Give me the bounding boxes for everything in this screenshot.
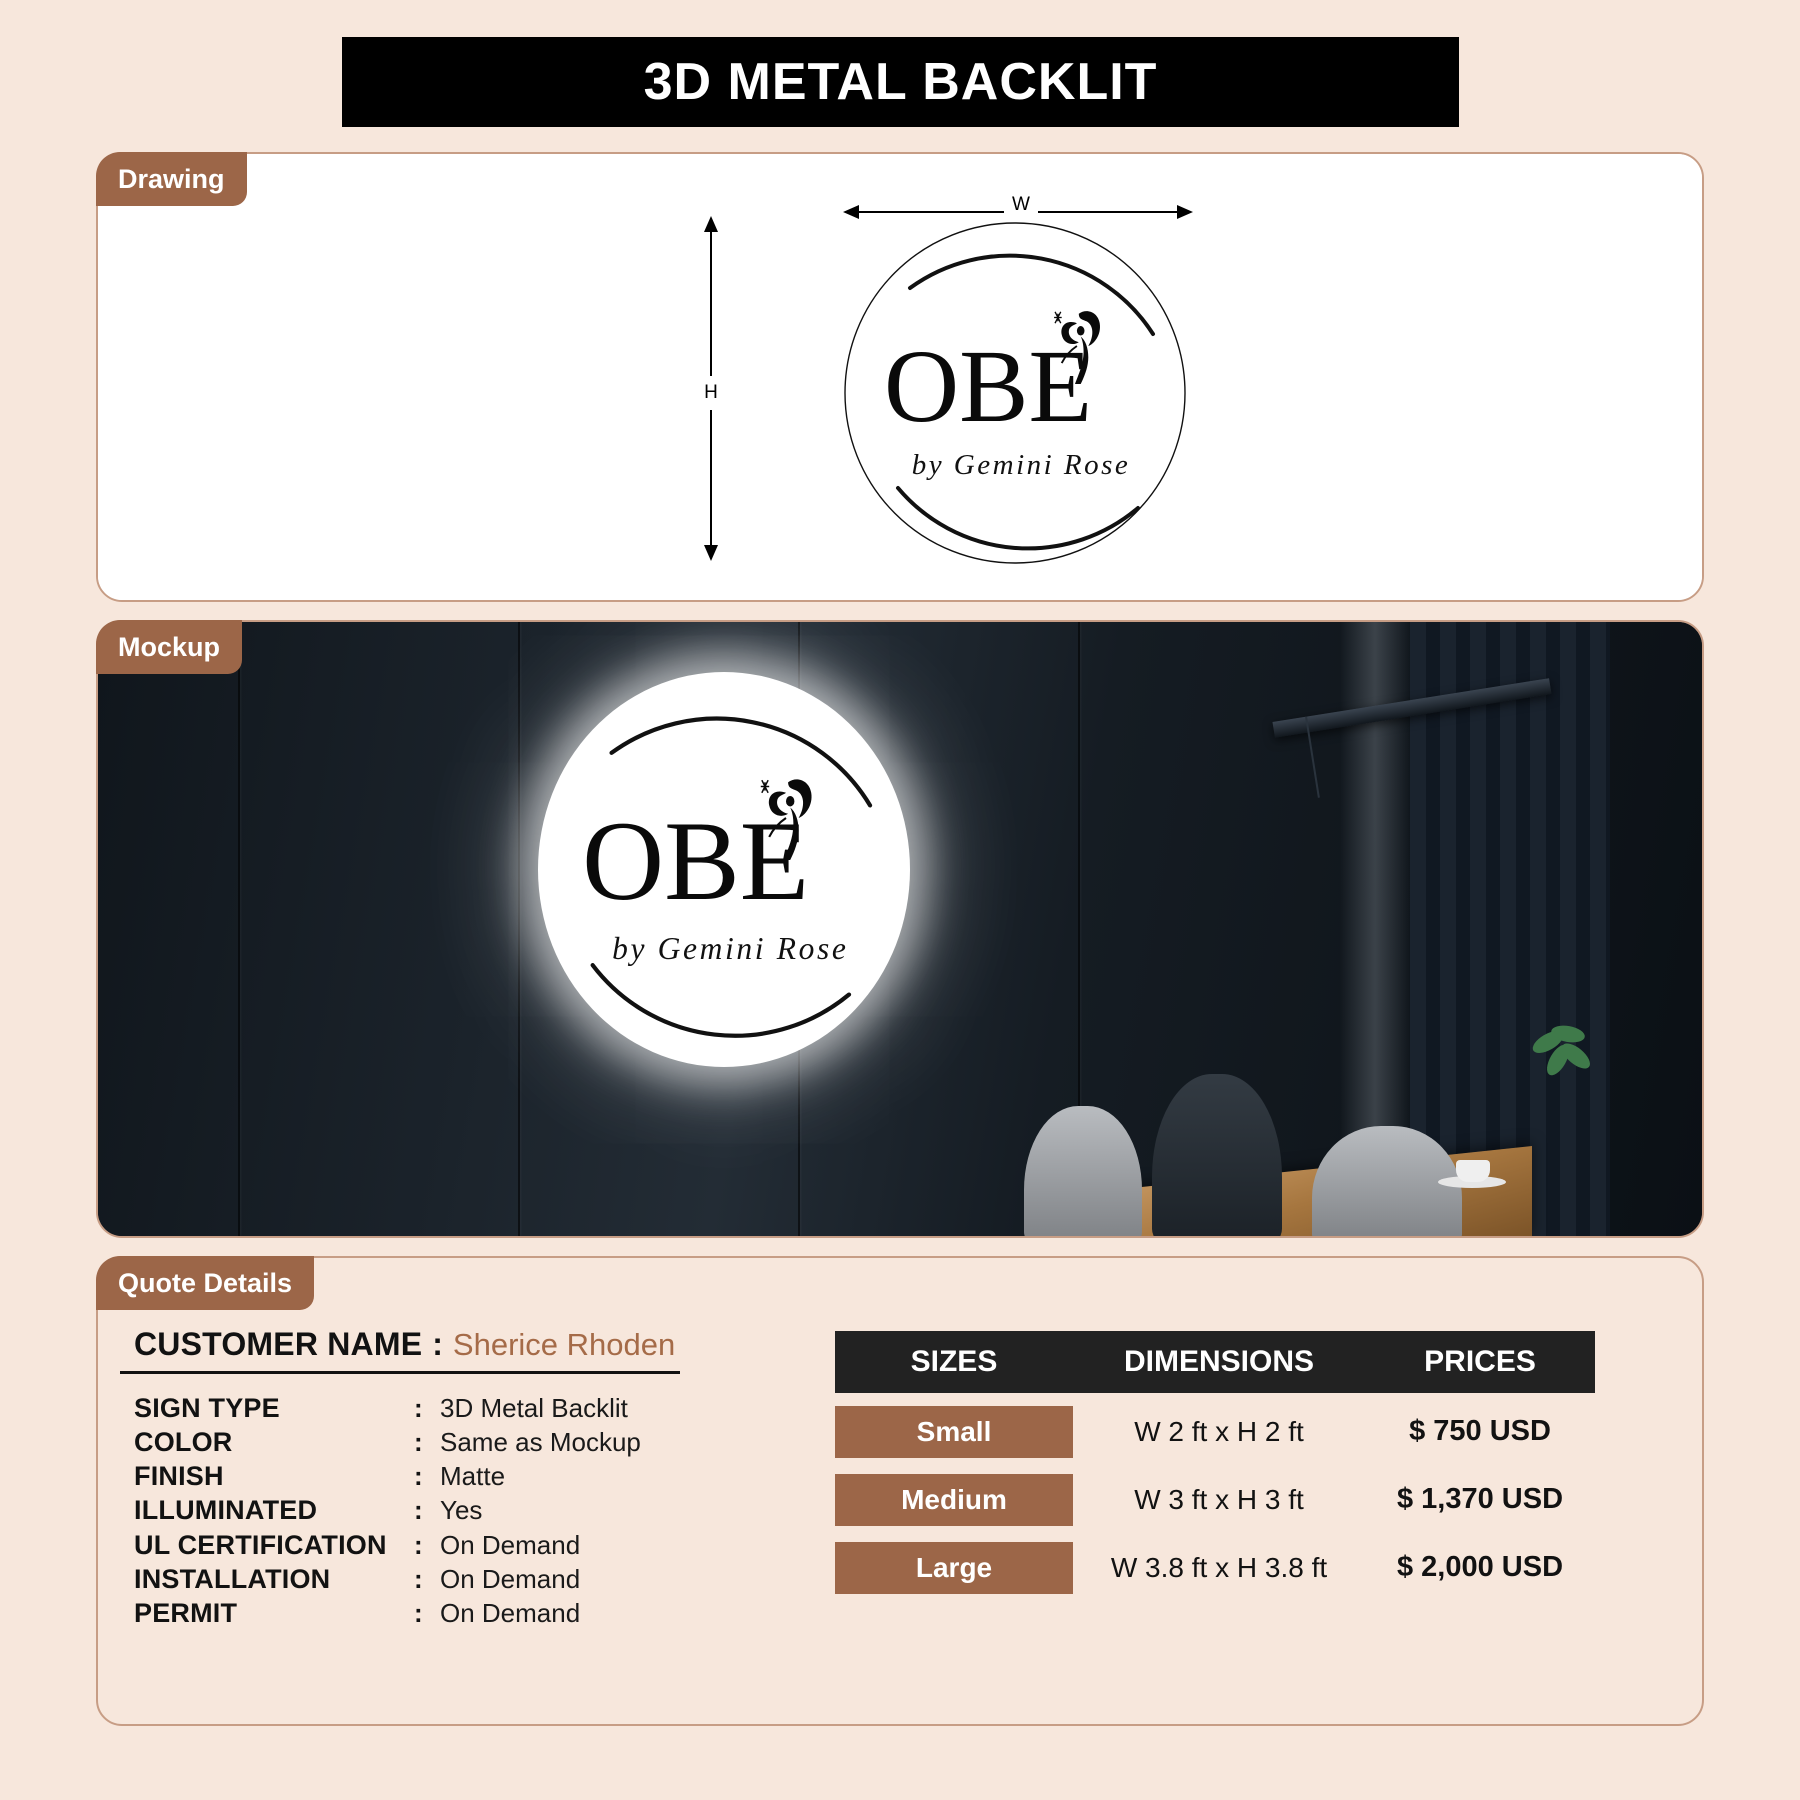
- quote-tab-label: Quote Details: [118, 1268, 292, 1299]
- price-cell: $ 2,000 USD: [1365, 1551, 1595, 1584]
- price-cell: $ 750 USD: [1365, 1415, 1595, 1448]
- spec-value: On Demand: [440, 1599, 580, 1627]
- spec-key: COLOR: [134, 1428, 414, 1457]
- customer-name-row: CUSTOMER NAME : Sherice Rhoden: [120, 1326, 680, 1374]
- drawing-tab-label: Drawing: [118, 164, 225, 195]
- colon: :: [414, 1428, 440, 1456]
- customer-name-label: CUSTOMER NAME: [134, 1326, 422, 1363]
- quote-section-tab: Quote Details: [96, 1256, 314, 1310]
- quote-sheet: 3D METAL BACKLIT W H OBE: [0, 0, 1800, 1800]
- spec-key: FINISH: [134, 1462, 414, 1491]
- size-badge-medium: Medium: [835, 1474, 1073, 1526]
- table-row: Large W 3.8 ft x H 3.8 ft $ 2,000 USD: [835, 1538, 1595, 1597]
- colon: :: [414, 1462, 440, 1490]
- size-badge-small: Small: [835, 1406, 1073, 1458]
- wall-seam: [238, 622, 240, 1236]
- colon: :: [414, 1565, 440, 1593]
- spec-row: FINISH : Matte: [134, 1462, 800, 1491]
- pricing-table-header: SIZES DIMENSIONS PRICES: [835, 1331, 1595, 1393]
- drawing-panel: W H OBE: [96, 152, 1704, 602]
- page-title: 3D METAL BACKLIT: [644, 52, 1158, 112]
- logo-drawing: OBE by Gemini Rose: [838, 216, 1192, 570]
- column-header-prices: PRICES: [1365, 1345, 1595, 1379]
- curtain: [1410, 622, 1610, 1236]
- spec-value: 3D Metal Backlit: [440, 1394, 628, 1422]
- column-header-dimensions: DIMENSIONS: [1073, 1345, 1365, 1379]
- colon: :: [432, 1326, 443, 1363]
- spec-value: Yes: [440, 1496, 482, 1524]
- table-row: Small W 2 ft x H 2 ft $ 750 USD: [835, 1402, 1595, 1461]
- drawing-canvas: W H OBE: [98, 154, 1702, 600]
- page-title-bar: 3D METAL BACKLIT: [342, 37, 1459, 127]
- specs-block: CUSTOMER NAME : Sherice Rhoden SIGN TYPE…: [120, 1326, 800, 1633]
- spec-key: PERMIT: [134, 1599, 414, 1628]
- spec-list: SIGN TYPE : 3D Metal Backlit COLOR : Sam…: [120, 1394, 800, 1628]
- spec-value: On Demand: [440, 1531, 580, 1559]
- coffee-cup: [1456, 1160, 1490, 1182]
- spec-row: COLOR : Same as Mockup: [134, 1428, 800, 1457]
- logo-brand-text: OBE: [582, 798, 809, 924]
- dimensions-cell: W 3.8 ft x H 3.8 ft: [1073, 1552, 1365, 1584]
- spec-row: UL CERTIFICATION : On Demand: [134, 1531, 800, 1560]
- pricing-table: SIZES DIMENSIONS PRICES Small W 2 ft x H…: [835, 1331, 1595, 1597]
- height-label: H: [698, 376, 724, 410]
- column-header-sizes: SIZES: [835, 1345, 1073, 1379]
- mockup-panel: OBE by Gemini Rose: [96, 620, 1704, 1238]
- quote-details-panel: CUSTOMER NAME : Sherice Rhoden SIGN TYPE…: [96, 1256, 1704, 1726]
- mockup-tab-label: Mockup: [118, 632, 220, 663]
- logo-tagline-text: by Gemini Rose: [912, 449, 1131, 481]
- spec-row: INSTALLATION : On Demand: [134, 1565, 800, 1594]
- colon: :: [414, 1496, 440, 1524]
- spec-row: SIGN TYPE : 3D Metal Backlit: [134, 1394, 800, 1423]
- colon: :: [414, 1531, 440, 1559]
- spec-row: PERMIT : On Demand: [134, 1599, 800, 1628]
- dimensions-cell: W 3 ft x H 3 ft: [1073, 1484, 1365, 1516]
- dimensions-cell: W 2 ft x H 2 ft: [1073, 1416, 1365, 1448]
- spec-key: INSTALLATION: [134, 1565, 414, 1594]
- spec-value: Same as Mockup: [440, 1428, 641, 1456]
- price-cell: $ 1,370 USD: [1365, 1483, 1595, 1516]
- spec-key: UL CERTIFICATION: [134, 1531, 414, 1560]
- spec-key: ILLUMINATED: [134, 1496, 414, 1525]
- table-row: Medium W 3 ft x H 3 ft $ 1,370 USD: [835, 1470, 1595, 1529]
- spec-value: Matte: [440, 1462, 505, 1490]
- spec-row: ILLUMINATED : Yes: [134, 1496, 800, 1525]
- spec-value: On Demand: [440, 1565, 580, 1593]
- colon: :: [414, 1599, 440, 1627]
- size-badge-large: Large: [835, 1542, 1073, 1594]
- mockup-scene: OBE by Gemini Rose: [98, 622, 1702, 1236]
- logo-mockup: OBE by Gemini Rose: [538, 672, 910, 1067]
- logo-brand-text: OBE: [884, 329, 1092, 444]
- width-label: W: [1004, 194, 1038, 216]
- colon: :: [414, 1394, 440, 1422]
- spec-key: SIGN TYPE: [134, 1394, 414, 1423]
- logo-tagline-text: by Gemini Rose: [612, 931, 848, 966]
- customer-name-value: Sherice Rhoden: [453, 1327, 675, 1363]
- drawing-section-tab: Drawing: [96, 152, 247, 206]
- plant: [1527, 1026, 1597, 1116]
- mockup-section-tab: Mockup: [96, 620, 242, 674]
